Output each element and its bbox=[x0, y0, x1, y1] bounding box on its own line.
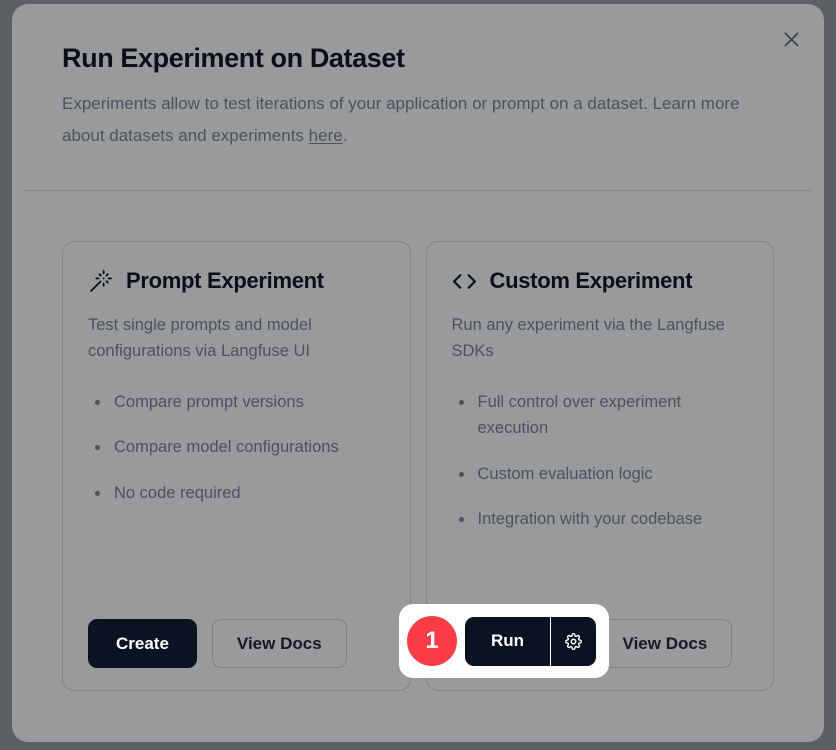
create-button[interactable]: Create bbox=[88, 619, 197, 668]
card-actions: Create View Docs bbox=[88, 619, 385, 668]
run-experiment-modal: Run Experiment on Dataset Experiments al… bbox=[12, 4, 824, 742]
run-button-highlighted[interactable]: Run bbox=[465, 617, 550, 666]
close-button[interactable] bbox=[776, 24, 806, 54]
list-item: Custom evaluation logic bbox=[452, 461, 749, 487]
modal-description-period: . bbox=[343, 126, 348, 145]
modal-header: Run Experiment on Dataset Experiments al… bbox=[12, 4, 824, 186]
modal-description-text: Experiments allow to test iterations of … bbox=[62, 94, 740, 144]
magic-wand-icon bbox=[88, 269, 113, 294]
list-item: No code required bbox=[88, 480, 385, 506]
header-divider bbox=[24, 190, 812, 191]
card-feature-list: Compare prompt versions Compare model co… bbox=[88, 389, 385, 609]
card-title: Custom Experiment bbox=[490, 268, 693, 294]
card-prompt-experiment[interactable]: Prompt Experiment Test single prompts an… bbox=[62, 241, 411, 691]
page-title: Run Experiment on Dataset bbox=[62, 42, 774, 74]
card-title: Prompt Experiment bbox=[126, 268, 324, 294]
card-feature-list: Full control over experiment execution C… bbox=[452, 389, 749, 609]
learn-more-link[interactable]: here bbox=[309, 126, 343, 145]
view-docs-button-prompt[interactable]: View Docs bbox=[212, 619, 347, 668]
card-header: Custom Experiment bbox=[452, 268, 749, 294]
view-docs-button-custom[interactable]: View Docs bbox=[598, 619, 733, 668]
list-item: Integration with your codebase bbox=[452, 506, 749, 532]
step-badge: 1 bbox=[407, 616, 457, 666]
close-icon bbox=[783, 31, 800, 48]
card-description: Test single prompts and model configurat… bbox=[88, 312, 385, 365]
run-split-button-highlighted[interactable]: Run bbox=[465, 617, 596, 666]
gear-icon bbox=[565, 633, 582, 650]
code-icon bbox=[452, 269, 477, 294]
modal-description: Experiments allow to test iterations of … bbox=[62, 88, 752, 151]
list-item: Full control over experiment execution bbox=[452, 389, 749, 442]
card-header: Prompt Experiment bbox=[88, 268, 385, 294]
run-settings-button-highlighted[interactable] bbox=[551, 617, 596, 666]
list-item: Compare prompt versions bbox=[88, 389, 385, 415]
card-description: Run any experiment via the Langfuse SDKs bbox=[452, 312, 749, 365]
list-item: Compare model configurations bbox=[88, 434, 385, 460]
